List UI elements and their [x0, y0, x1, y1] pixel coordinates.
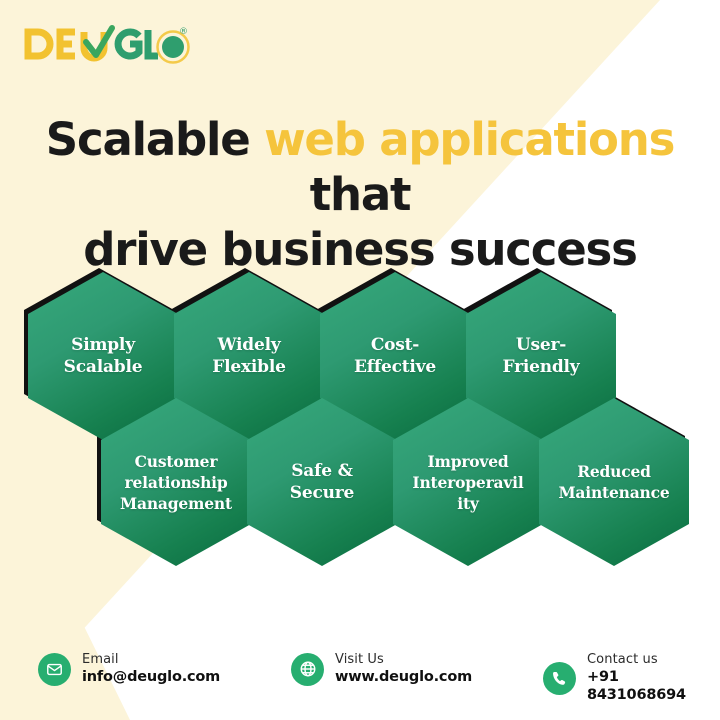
footer-value[interactable]: www.deuglo.com: [335, 668, 472, 686]
hex-label: ReducedMaintenance: [539, 398, 689, 566]
footer-text-website: Visit Us www.deuglo.com: [335, 652, 472, 686]
logo-letter-d: [28, 32, 50, 56]
footer-text-phone: Contact us +91 8431068694: [587, 652, 720, 704]
footer-label: Email: [82, 652, 220, 668]
footer-item-website[interactable]: Visit Us www.deuglo.com: [291, 652, 472, 686]
footer-value[interactable]: info@deuglo.com: [82, 668, 220, 686]
footer-text-email: Email info@deuglo.com: [82, 652, 220, 686]
hex-tile-customer-relationship-management[interactable]: CustomerrelationshipManagement: [101, 398, 251, 566]
footer-item-phone[interactable]: Contact us +91 8431068694: [543, 652, 720, 704]
feature-hexagon-grid: SimplyScalable WidelyFlexible Cost-Effec…: [0, 262, 720, 592]
globe-icon: [291, 653, 324, 686]
headline-line1-part1: Scalable: [46, 113, 264, 166]
logo-letter-g: [118, 32, 139, 56]
envelope-icon: [38, 653, 71, 686]
hex-tile-reduced-maintenance[interactable]: ReducedMaintenance: [539, 398, 689, 566]
logo-letter-l: [148, 30, 158, 56]
phone-icon: [543, 662, 576, 695]
footer-label: Contact us: [587, 652, 720, 668]
hex-label: ImprovedInteroperavility: [393, 398, 543, 566]
logo-letter-e: [60, 32, 75, 56]
logo-letter-o: [162, 36, 184, 58]
page-title: Scalable web applications that drive bus…: [0, 112, 720, 277]
logo-check-accent: [86, 28, 112, 55]
logo-trademark-icon: ®: [179, 27, 188, 37]
headline-line2: drive business success: [83, 223, 636, 276]
hex-tile-safe-secure[interactable]: Safe &Secure: [247, 398, 397, 566]
footer-label: Visit Us: [335, 652, 472, 668]
footer-contact-bar: Email info@deuglo.com Visit Us www.deugl…: [0, 644, 720, 698]
deuglo-logo[interactable]: ®: [22, 22, 192, 68]
hex-label: Safe &Secure: [247, 398, 397, 566]
headline-highlight: web applications: [264, 113, 674, 166]
footer-item-email[interactable]: Email info@deuglo.com: [38, 652, 220, 686]
hex-label: CustomerrelationshipManagement: [101, 398, 251, 566]
footer-value[interactable]: +91 8431068694: [587, 668, 720, 704]
hex-tile-improved-interoperability[interactable]: ImprovedInteroperavility: [393, 398, 543, 566]
headline-line1-part2: that: [310, 168, 411, 221]
